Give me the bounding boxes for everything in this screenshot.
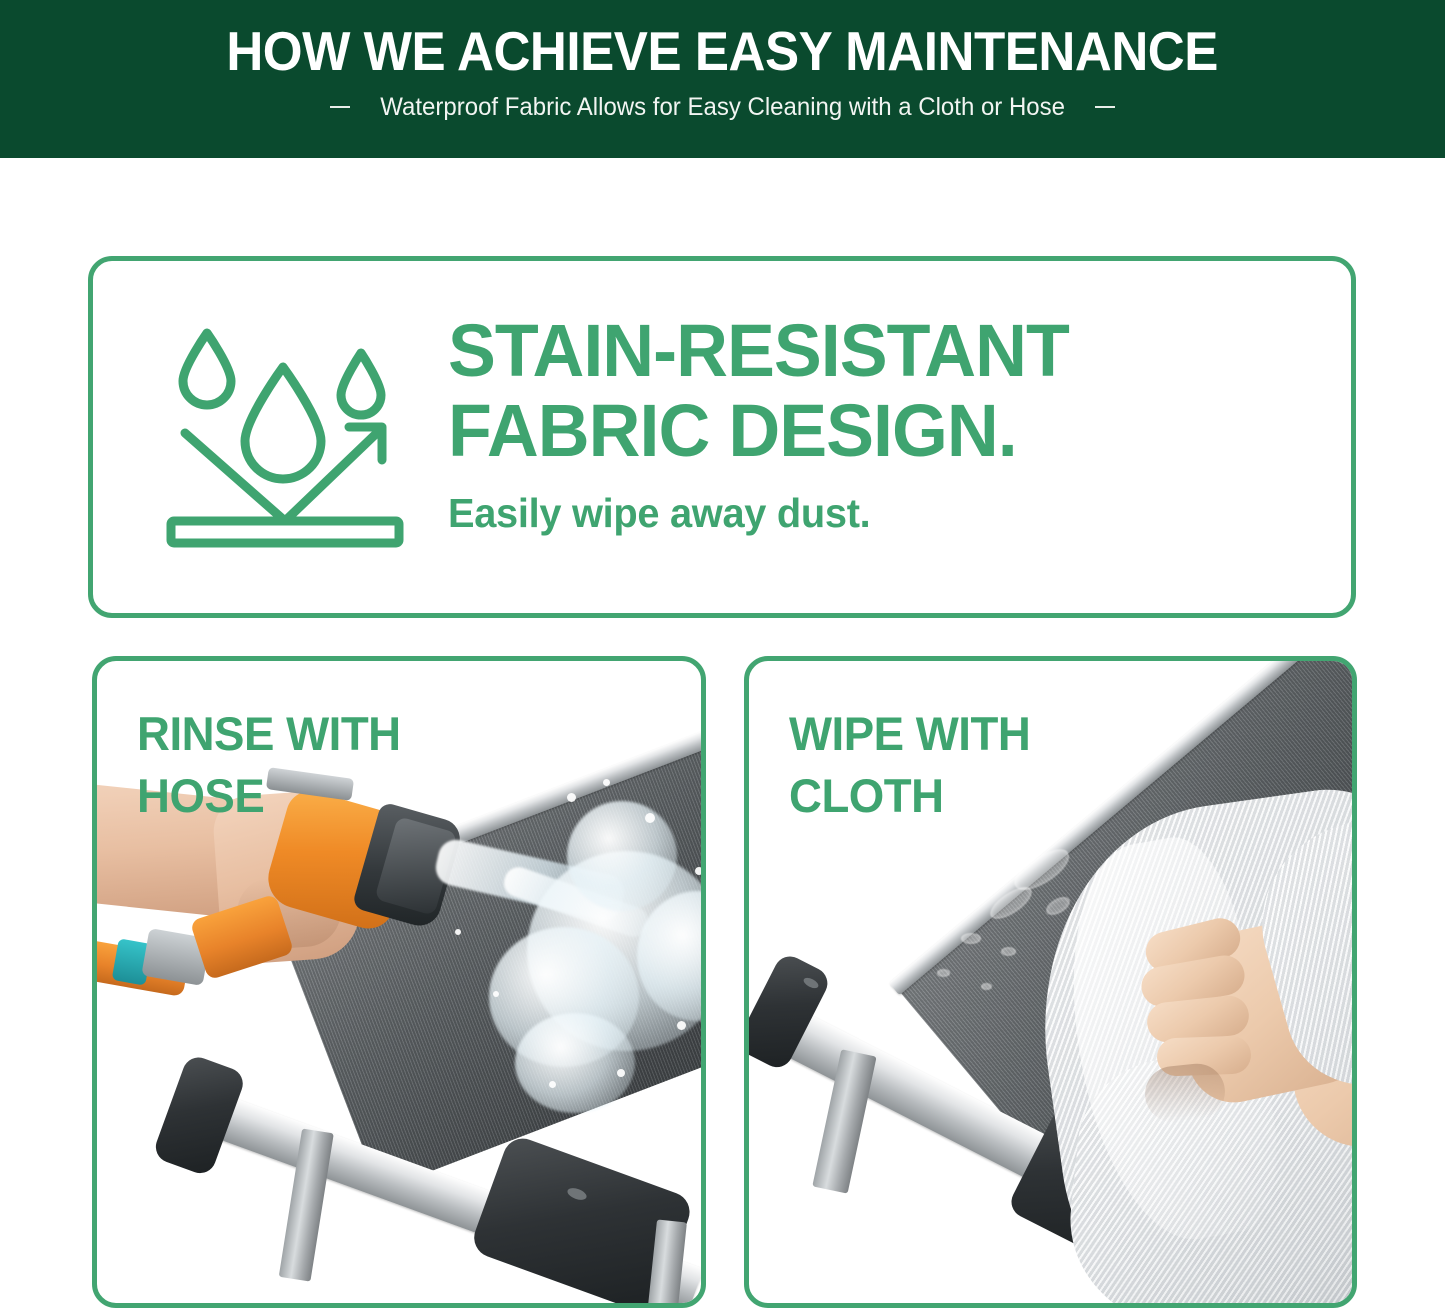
feature-card-stain-resistant: STAIN-RESISTANT FABRIC DESIGN. Easily wi… xyxy=(88,256,1356,618)
wipe-card-label: WIPE WITH CLOTH xyxy=(789,703,1030,827)
header-subtitle-row: Waterproof Fabric Allows for Easy Cleani… xyxy=(330,92,1115,122)
rinse-card-label: RINSE WITH HOSE xyxy=(137,703,401,827)
water-repellent-fabric-icon xyxy=(163,323,409,553)
water-speck xyxy=(493,991,499,997)
water-speck xyxy=(567,793,576,802)
header-banner: HOW WE ACHIEVE EASY MAINTENANCE Waterpro… xyxy=(0,0,1445,158)
splash-low xyxy=(515,1013,635,1113)
water-speck xyxy=(455,929,461,935)
water-speck xyxy=(549,1081,556,1088)
feature-text-block: STAIN-RESISTANT FABRIC DESIGN. Easily wi… xyxy=(448,311,1298,537)
header-subtitle: Waterproof Fabric Allows for Easy Cleani… xyxy=(380,92,1065,122)
rinse-with-hose-card: RINSE WITH HOSE xyxy=(92,656,706,1308)
water-speck xyxy=(677,1021,686,1030)
wipe-with-cloth-card: WIPE WITH CLOTH xyxy=(744,656,1357,1308)
feature-heading: STAIN-RESISTANT FABRIC DESIGN. xyxy=(448,311,1273,471)
water-speck xyxy=(617,1069,625,1077)
dash-left-icon xyxy=(330,106,350,108)
splash-upper xyxy=(567,801,677,911)
water-speck xyxy=(695,867,701,875)
feature-subheading: Easily wipe away dust. xyxy=(448,489,1273,537)
water-speck xyxy=(603,779,610,786)
page-title: HOW WE ACHIEVE EASY MAINTENANCE xyxy=(227,22,1219,80)
dash-right-icon xyxy=(1095,106,1115,108)
water-speck xyxy=(645,813,655,823)
